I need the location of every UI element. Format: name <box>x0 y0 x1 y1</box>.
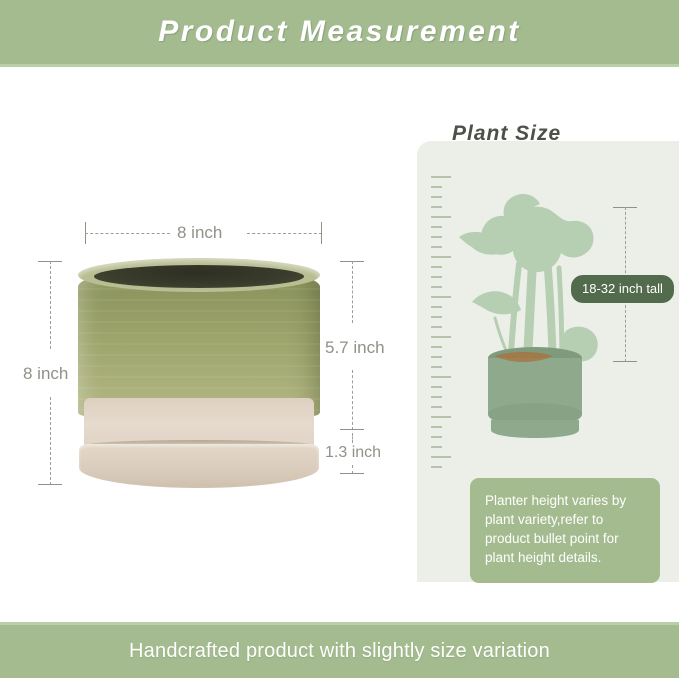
ruler-tick <box>431 466 442 468</box>
dimension-dash-upper <box>50 261 51 349</box>
dimension-dash-upper <box>625 207 626 278</box>
ruler-tick <box>431 226 442 228</box>
ruler-tick <box>431 256 451 258</box>
planter-opening <box>94 265 304 288</box>
dimension-dash-right <box>247 233 322 234</box>
ruler-tick <box>431 216 451 218</box>
ruler-tick <box>431 246 442 248</box>
ruler-tick <box>431 416 451 418</box>
ruler-tick <box>431 336 451 338</box>
ruler-tick <box>431 296 451 298</box>
ruler-tick <box>431 316 442 318</box>
dimension-dash-left <box>85 233 170 234</box>
dimension-dash-lower <box>352 370 353 430</box>
ruler-tick <box>431 276 442 278</box>
ruler-tick <box>431 266 442 268</box>
dimension-cap-bottom <box>613 361 637 362</box>
planter-saucer <box>79 444 319 488</box>
footer-note: Handcrafted product with slightly size v… <box>129 640 550 663</box>
dimension-cap-right <box>321 222 322 244</box>
ruler-tick <box>431 356 442 358</box>
ruler-tick <box>431 176 451 178</box>
ruler-tick <box>431 236 442 238</box>
dimension-dash-lower <box>625 305 626 362</box>
ruler-tick <box>431 436 442 438</box>
dimension-label-top-width: 8 inch <box>177 223 222 243</box>
potted-plant-illustration <box>455 190 615 440</box>
ruler-tick <box>431 196 442 198</box>
plant-height-note: Planter height varies by plant variety,r… <box>470 478 660 583</box>
ruler-tick <box>431 426 442 428</box>
dimension-cap-bottom <box>38 484 62 485</box>
ruler-tick <box>431 186 442 188</box>
dimension-dash-upper <box>352 261 353 323</box>
dimension-dash-upper <box>352 433 353 443</box>
ruler-tick <box>431 346 442 348</box>
ruler-tick <box>431 306 442 308</box>
dimension-dash-lower <box>50 397 51 485</box>
plant-size-title: Plant Size <box>452 122 561 146</box>
ruler-tick <box>431 326 442 328</box>
dimension-cap-bottom <box>340 429 364 430</box>
ruler-tick <box>431 386 442 388</box>
ruler-tick <box>431 206 442 208</box>
page-title: Product Measurement <box>158 15 521 49</box>
product-measurement-pane: 8 inch 8 inch 5.7 inch 1.3 inch <box>0 67 417 622</box>
header-bar: Product Measurement <box>0 0 679 67</box>
plant-pot <box>488 347 582 438</box>
planter-photo <box>78 258 320 480</box>
footer-bar: Handcrafted product with slightly size v… <box>0 622 679 678</box>
ruler-tick <box>431 456 451 458</box>
ruler-tick <box>431 376 451 378</box>
dimension-label-pot-height: 5.7 inch <box>325 338 385 358</box>
ruler-tick <box>431 446 442 448</box>
dimension-label-saucer-height: 1.3 inch <box>325 444 381 462</box>
dimension-label-total-height: 8 inch <box>23 364 68 384</box>
ruler-tick <box>431 286 442 288</box>
plant-height-badge: 18-32 inch tall <box>571 275 674 303</box>
dimension-cap-bottom <box>340 473 364 474</box>
height-ruler <box>431 176 457 476</box>
ruler-tick <box>431 406 442 408</box>
ruler-tick <box>431 366 442 368</box>
ruler-tick <box>431 396 442 398</box>
infographic-canvas: Product Measurement 8 inch 8 inch <box>0 0 679 678</box>
